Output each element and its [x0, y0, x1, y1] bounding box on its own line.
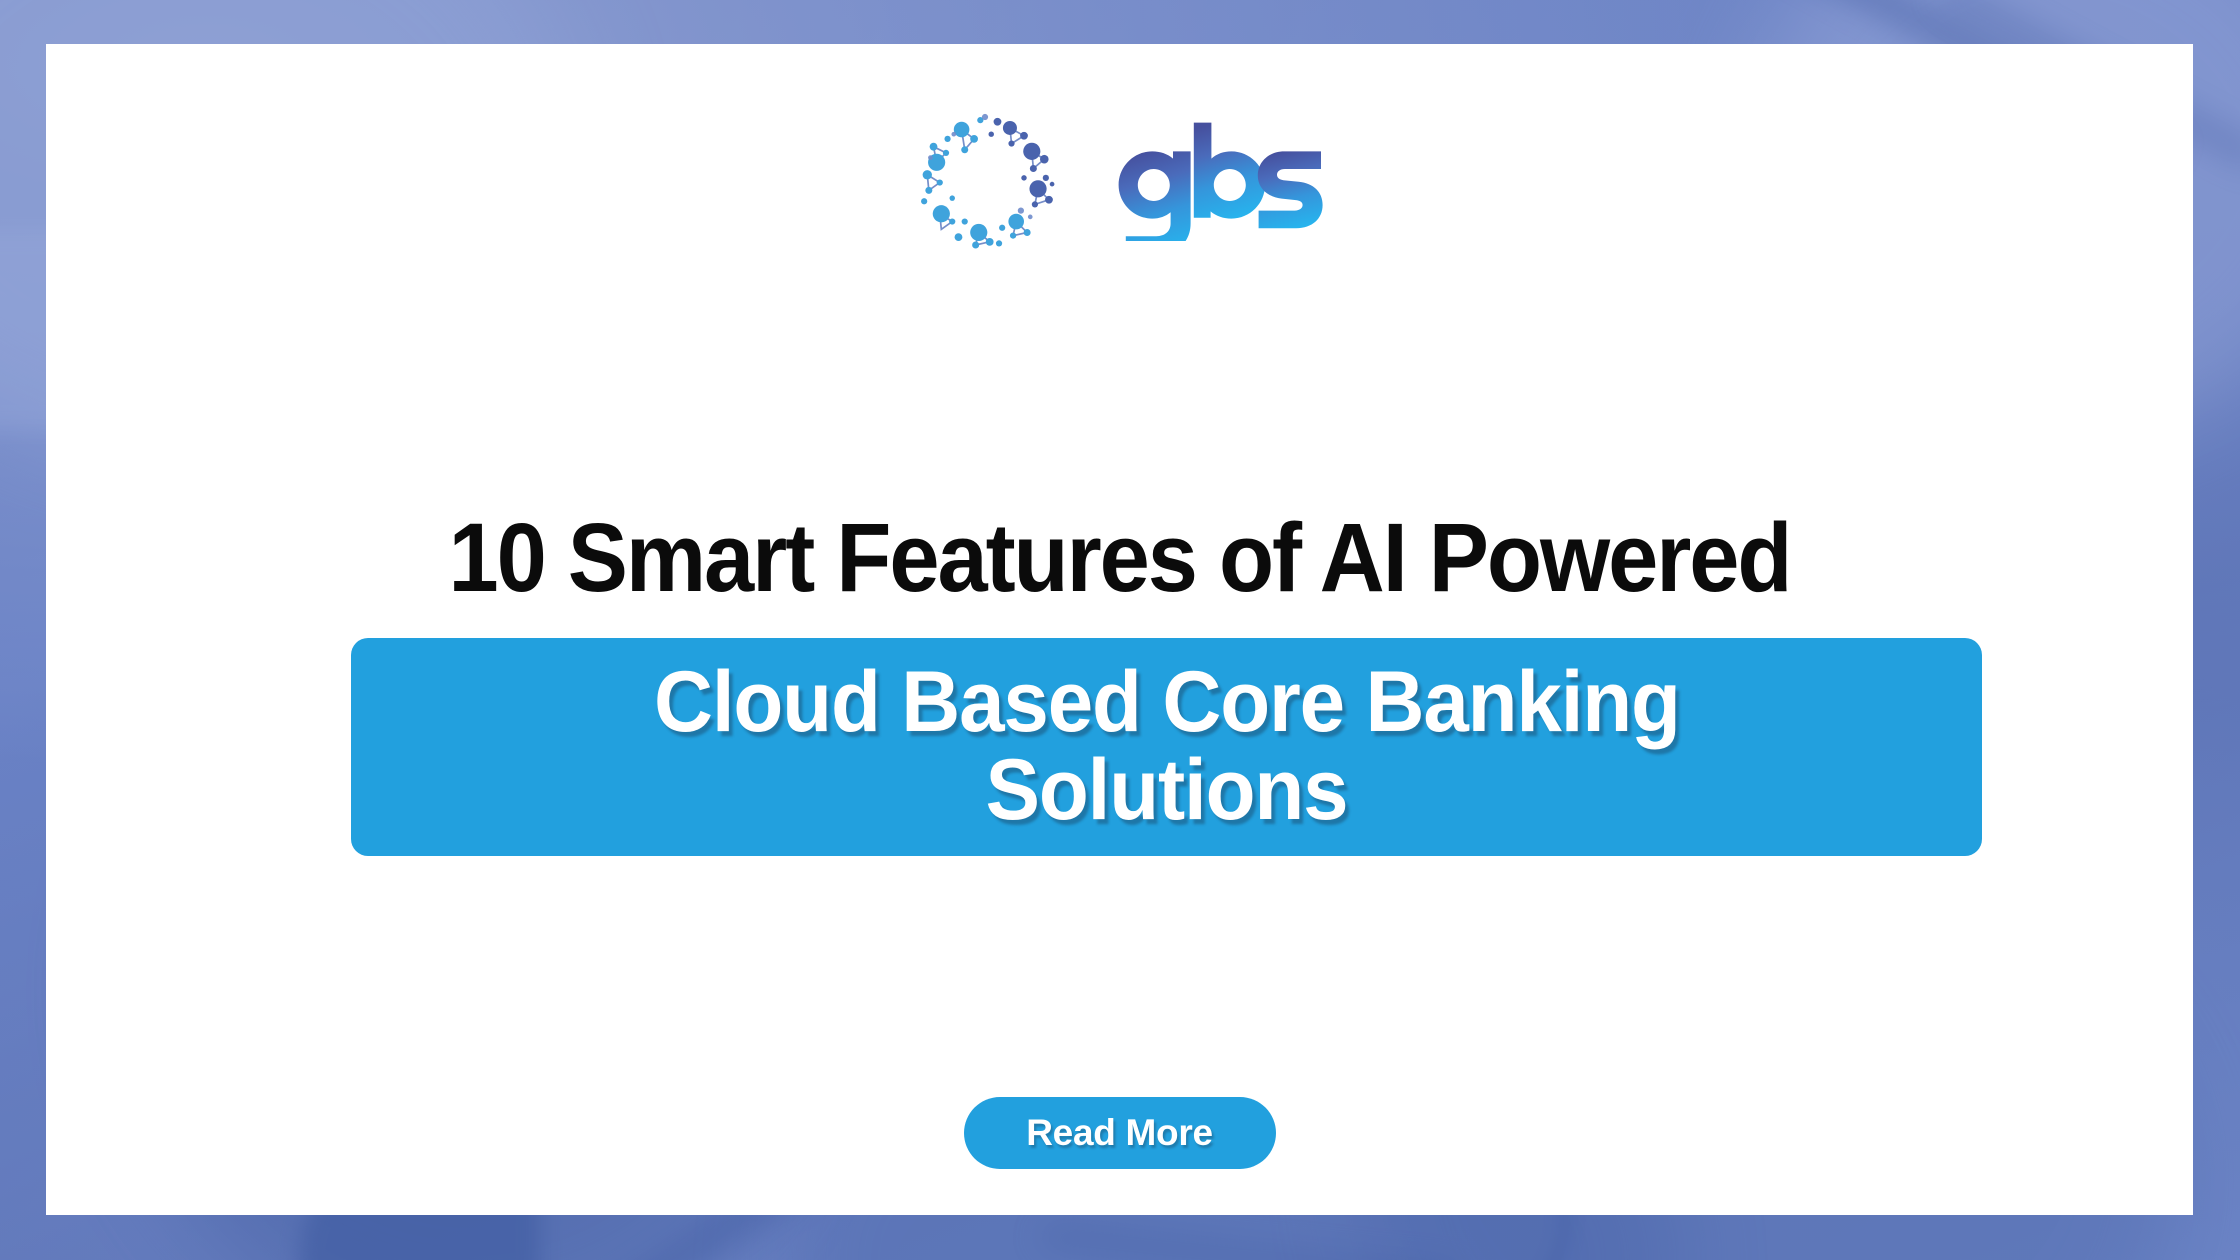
- slide-canvas: 10 Smart Features of AI Powered Cloud Ba…: [0, 0, 2240, 1260]
- brand-logo: [46, 96, 2193, 266]
- subtitle-line-1: Cloud Based Core Banking: [654, 659, 1680, 747]
- content-card: 10 Smart Features of AI Powered Cloud Ba…: [46, 44, 2193, 1215]
- subtitle-banner: Cloud Based Core Banking Solutions: [351, 638, 1982, 856]
- page-title: 10 Smart Features of AI Powered: [121, 509, 2118, 606]
- gbs-wordmark: [1093, 121, 1333, 241]
- cta-container: Read More: [46, 1097, 2193, 1169]
- gbs-network-circle-logo-icon: [907, 103, 1063, 259]
- subtitle-line-2: Solutions: [986, 747, 1348, 835]
- read-more-button[interactable]: Read More: [964, 1097, 1276, 1169]
